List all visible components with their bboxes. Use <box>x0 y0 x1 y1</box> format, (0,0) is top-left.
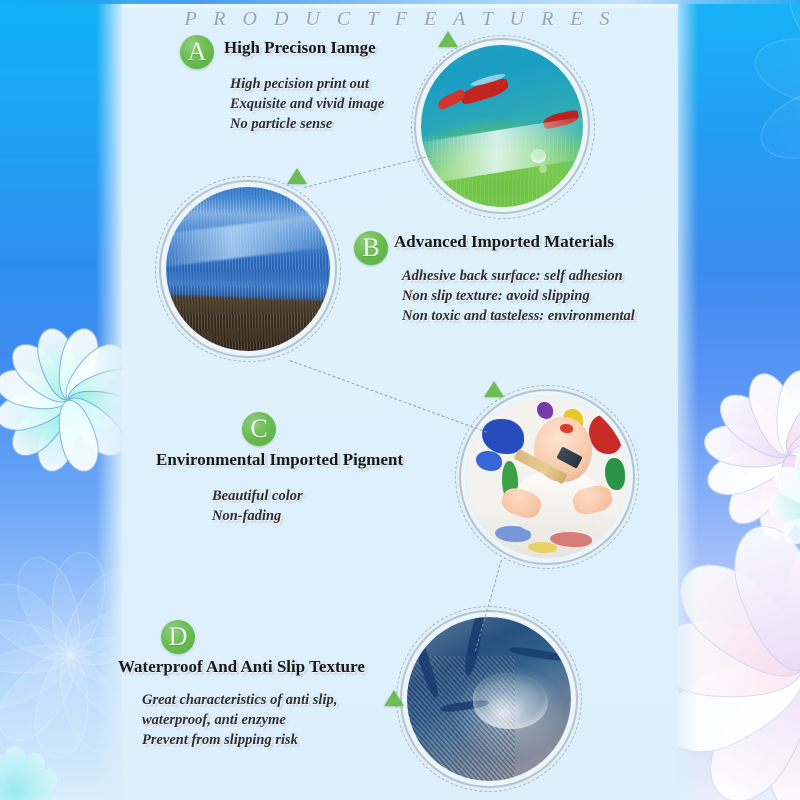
page-title: P R O D U C T F E A T U R E S <box>122 8 678 31</box>
feature-badge-a: A <box>180 35 214 69</box>
feature-line: Great characteristics of anti slip, <box>142 690 337 710</box>
blue-fabric-artwork <box>166 187 330 351</box>
painting-baby-artwork <box>466 396 628 558</box>
connector-b-to-c <box>290 360 488 433</box>
koi-pond-artwork <box>421 45 583 207</box>
arrow-to-photo-b <box>287 168 307 184</box>
painting-baby-photo <box>466 396 628 558</box>
top-inner-stripe <box>122 4 678 8</box>
left-decor-band <box>0 0 122 800</box>
arrow-to-photo-c <box>484 381 504 397</box>
product-features-poster: P R O D U C T F E A T U R E S A High Pre… <box>0 0 800 800</box>
feature-line: Non-fading <box>212 506 303 526</box>
arrow-to-photo-a <box>438 31 458 47</box>
koi-pond-photo <box>421 45 583 207</box>
feature-body-b: Adhesive back surface: self adhesion Non… <box>402 266 635 326</box>
waterproof-droplet-artwork <box>407 617 571 781</box>
feature-heading-b: Advanced Imported Materials <box>394 232 614 252</box>
feature-line: Adhesive back surface: self adhesion <box>402 266 635 286</box>
feature-body-c: Beautiful color Non-fading <box>212 486 303 526</box>
feature-line: High pecision print out <box>230 74 384 94</box>
arrow-to-photo-d <box>384 690 404 706</box>
content-panel: P R O D U C T F E A T U R E S A High Pre… <box>122 0 678 800</box>
left-band-fade <box>96 0 122 800</box>
feature-line: Beautiful color <box>212 486 303 506</box>
feature-line: Exquisite and vivid image <box>230 94 384 114</box>
feature-line: Prevent from slipping risk <box>142 730 337 750</box>
feature-heading-a: High Precison Iamge <box>224 38 376 58</box>
right-decor-band <box>672 0 800 800</box>
feature-body-d: Great characteristics of anti slip, wate… <box>142 690 337 750</box>
teal-cluster-decoration <box>767 445 800 555</box>
connector-a-to-b <box>304 156 430 188</box>
waterproof-droplet-photo <box>407 617 571 781</box>
feature-heading-d: Waterproof And Anti Slip Texture <box>118 657 365 677</box>
feature-line: waterproof, anti enzyme <box>142 710 337 730</box>
blue-fabric-photo <box>166 187 330 351</box>
small-flower-decoration <box>0 745 60 800</box>
top-right-flower-decoration <box>752 0 800 240</box>
feature-badge-c: C <box>242 412 276 446</box>
feature-line: No particle sense <box>230 114 384 134</box>
feature-heading-c: Environmental Imported Pigment <box>156 450 403 470</box>
feature-badge-d: D <box>161 620 195 654</box>
feature-body-a: High pecision print out Exquisite and vi… <box>230 74 384 134</box>
feature-line: Non toxic and tasteless: environmental <box>402 306 635 326</box>
feature-badge-b: B <box>354 231 388 265</box>
feature-line: Non slip texture: avoid slipping <box>402 286 635 306</box>
